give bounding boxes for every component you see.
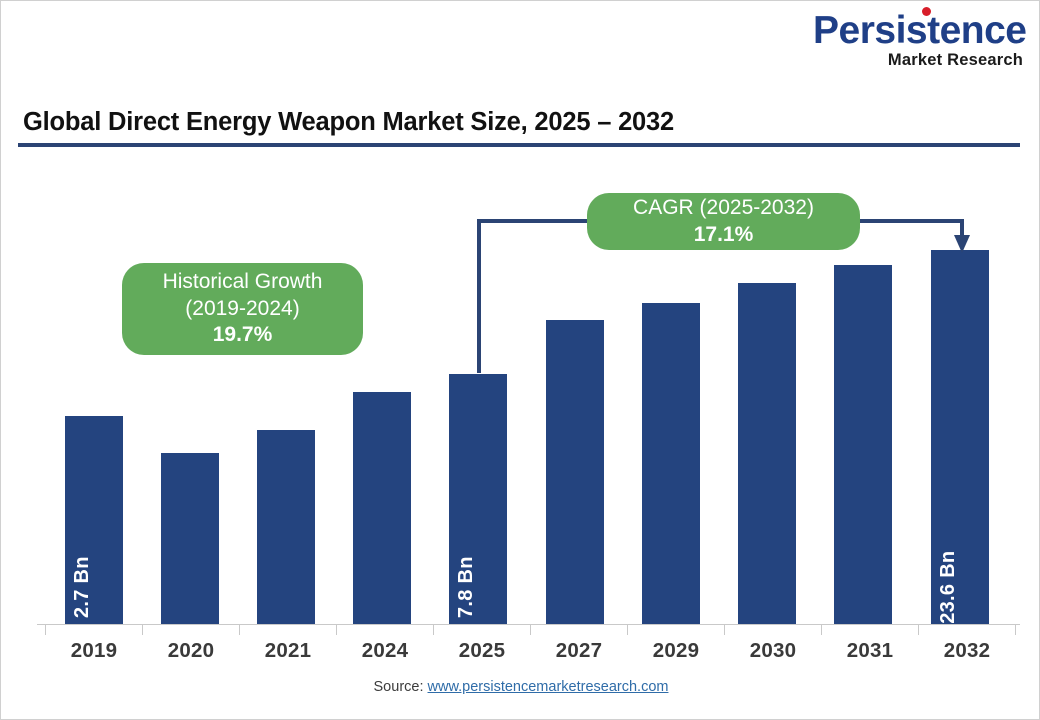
- x-axis-tick: [142, 624, 143, 635]
- x-axis-tick: [821, 624, 822, 635]
- callout-line1: Historical Growth: [163, 269, 323, 296]
- bar-2020: [161, 453, 219, 624]
- x-axis-label-2027: 2027: [531, 639, 627, 663]
- x-axis-line: [37, 624, 1020, 625]
- x-axis-label-2030: 2030: [725, 639, 821, 663]
- x-axis-tick: [724, 624, 725, 635]
- callout-value: 19.7%: [213, 322, 273, 349]
- source-link[interactable]: www.persistencemarketresearch.com: [428, 679, 669, 695]
- x-axis-label-2029: 2029: [628, 639, 724, 663]
- x-axis-label-2031: 2031: [822, 639, 918, 663]
- plot-area: US$ 2.7 Bn US$ 7.8 Bn US$ 23.6 Bn: [1, 1, 1040, 720]
- x-axis-tick: [433, 624, 434, 635]
- x-axis-label-2032: 2032: [919, 639, 1015, 663]
- x-axis-tick: [239, 624, 240, 635]
- bar-2032: US$ 23.6 Bn: [931, 250, 989, 624]
- bar-2027: [546, 320, 604, 624]
- x-axis-label-2021: 2021: [240, 639, 336, 663]
- callout-line2: (2019-2024): [185, 296, 299, 323]
- x-axis-tick: [45, 624, 46, 635]
- bar-2030: [738, 283, 796, 624]
- cagr-callout: CAGR (2025-2032) 17.1%: [587, 193, 860, 250]
- x-axis-label-2025: 2025: [434, 639, 530, 663]
- bar-2029: [642, 303, 700, 624]
- x-axis-tick: [627, 624, 628, 635]
- chart-canvas: Persistence Market Research Global Direc…: [0, 0, 1040, 720]
- source-note: Source: www.persistencemarketresearch.co…: [1, 679, 1040, 695]
- bar-2021: [257, 430, 315, 624]
- x-axis-label-2019: 2019: [46, 639, 142, 663]
- x-axis-tick: [336, 624, 337, 635]
- callout-line1: CAGR (2025-2032): [633, 195, 814, 222]
- bar-2025: US$ 7.8 Bn: [449, 374, 507, 624]
- x-axis-tick: [530, 624, 531, 635]
- bar-2019: US$ 2.7 Bn: [65, 416, 123, 624]
- x-axis-label-2024: 2024: [337, 639, 433, 663]
- bar-2024: [353, 392, 411, 624]
- x-axis-tick: [1015, 624, 1016, 635]
- historical-growth-callout: Historical Growth (2019-2024) 19.7%: [122, 263, 363, 355]
- callout-value: 17.1%: [694, 222, 754, 249]
- x-axis-label-2020: 2020: [143, 639, 239, 663]
- bar-2031: [834, 265, 892, 624]
- x-axis-tick: [918, 624, 919, 635]
- source-prefix: Source:: [374, 679, 428, 695]
